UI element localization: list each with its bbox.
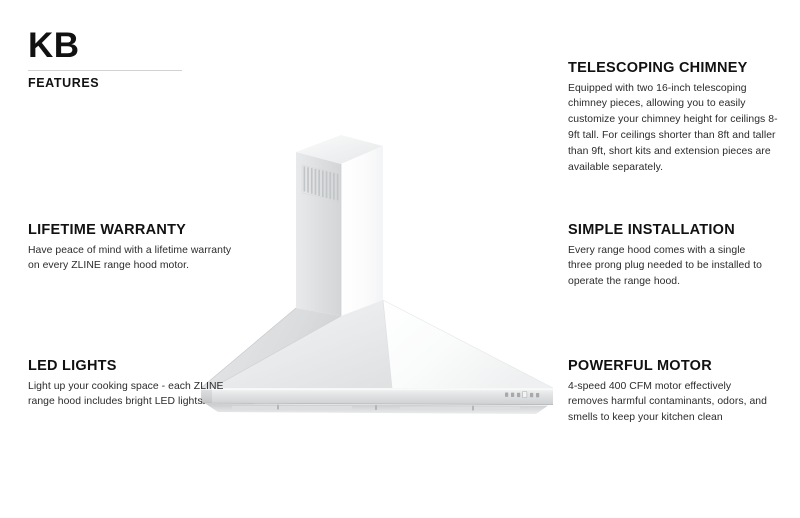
feature-title: SIMPLE INSTALLATION [568,222,768,239]
hood-underside-led-panel [206,404,548,414]
brand-subtitle: FEATURES [28,76,188,90]
feature-led-lights: LED LIGHTS Light up your cooking space -… [28,358,233,410]
feature-powerful-motor: POWERFUL MOTOR 4-speed 400 CFM motor eff… [568,358,768,426]
bottom-control-rim [201,388,553,405]
feature-simple-installation: SIMPLE INSTALLATION Every range hood com… [568,222,768,290]
feature-telescoping-chimney: TELESCOPING CHIMNEY Equipped with two 16… [568,60,778,176]
chimney-top-face [296,135,383,164]
feature-lifetime-warranty: LIFETIME WARRANTY Have peace of mind wit… [28,222,233,274]
page-title: KB [28,28,188,63]
feature-body: Equipped with two 16-inch telescoping ch… [568,81,778,176]
feature-body: 4-speed 400 CFM motor effectively remove… [568,379,768,426]
rim-screws [277,405,474,411]
feature-title: LED LIGHTS [28,358,233,375]
canopy-front-right-panel [383,300,553,388]
feature-title: TELESCOPING CHIMNEY [568,60,778,77]
feature-title: LIFETIME WARRANTY [28,222,233,239]
feature-body: Have peace of mind with a lifetime warra… [28,243,233,275]
chimney-vent-slots [304,167,339,202]
led-light-right [400,407,520,410]
brand-block: KB FEATURES [28,28,188,90]
chimney-left-face [296,152,341,316]
led-light-left [232,406,352,409]
feature-page: KB FEATURES [0,0,800,518]
feature-body: Light up your cooking space - each ZLINE… [28,379,233,411]
control-buttons[interactable] [505,391,539,397]
feature-body: Every range hood comes with a single thr… [568,243,768,290]
feature-title: POWERFUL MOTOR [568,358,768,375]
chimney-right-face [341,146,383,316]
brand-divider [28,70,182,71]
canopy-seams [201,300,553,388]
canopy-front-left-panel [212,300,392,388]
